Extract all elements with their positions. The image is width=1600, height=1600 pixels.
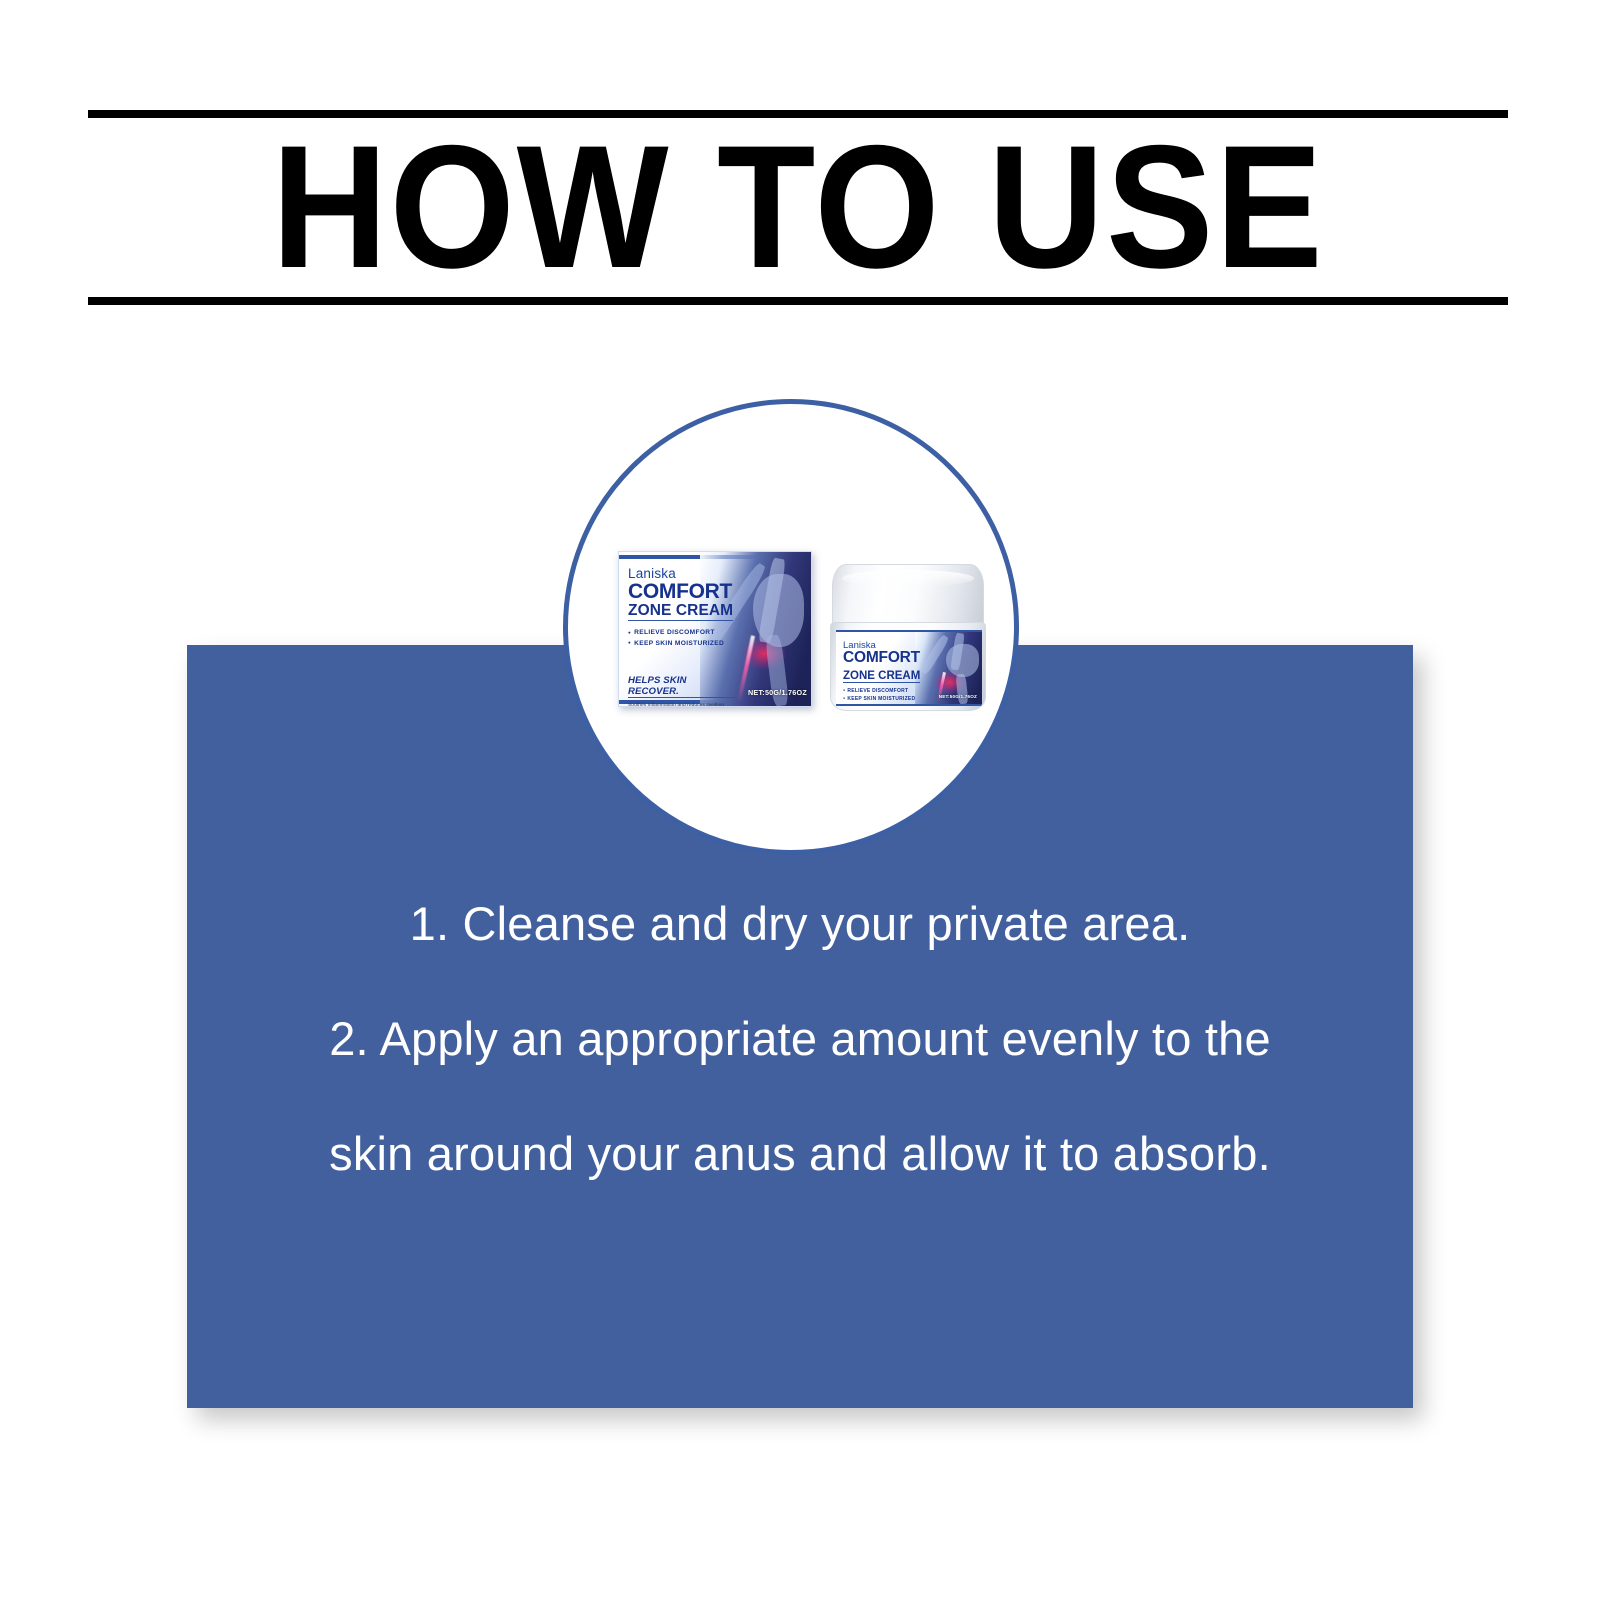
instruction-step-1: 1. Cleanse and dry your private area.: [187, 900, 1413, 947]
box-label-text: Laniska COMFORT ZONE CREAM RELIEVE DISCO…: [628, 566, 736, 707]
box-fineprint: Soothes inflammation and reduces swellin…: [628, 702, 736, 707]
title-rule-bottom: [88, 297, 1508, 305]
page-title: HOW TO USE: [145, 118, 1451, 297]
box-headline: COMFORT: [628, 582, 736, 602]
jar-benefit-item: KEEP SKIN MOISTURIZED: [843, 696, 928, 704]
jar-label: Laniska COMFORT ZONE CREAM RELIEVE DISCO…: [836, 630, 982, 706]
jar-net-weight: NET:50G/1.76OZ: [939, 694, 977, 699]
instruction-step-3: skin around your anus and allow it to ab…: [187, 1130, 1413, 1177]
box-claim: HELPS SKIN RECOVER.: [628, 675, 736, 698]
box-net-weight: NET:50G/1.76OZ: [748, 688, 807, 697]
jar-benefit-list: RELIEVE DISCOMFORT KEEP SKIN MOISTURIZED: [843, 688, 928, 704]
jar-benefit-item: RELIEVE DISCOMFORT: [843, 688, 928, 696]
box-subheadline: ZONE CREAM: [628, 603, 733, 621]
jar-label-text: Laniska COMFORT ZONE CREAM RELIEVE DISCO…: [843, 640, 928, 706]
jar-lid: [832, 564, 984, 630]
leg-bone-icon: [956, 673, 969, 704]
box-benefit-item: KEEP SKIN MOISTURIZED: [628, 639, 736, 649]
product-jar-image: Laniska COMFORT ZONE CREAM RELIEVE DISCO…: [830, 564, 986, 711]
product-box-image: Laniska COMFORT ZONE CREAM RELIEVE DISCO…: [618, 551, 812, 707]
box-brand-name: Laniska: [628, 566, 736, 581]
box-benefit-list: RELIEVE DISCOMFORT KEEP SKIN MOISTURIZED: [628, 628, 736, 648]
instructions-list: 1. Cleanse and dry your private area. 2.…: [187, 900, 1413, 1177]
box-fineprint-line: Soothes inflammation and reduces swellin…: [628, 702, 736, 707]
header-block: HOW TO USE: [88, 110, 1508, 305]
pelvis-bone-icon: [946, 644, 978, 677]
jar-headline: COMFORT: [843, 651, 928, 666]
jar-subheadline: ZONE CREAM: [843, 670, 920, 683]
jar-body: Laniska COMFORT ZONE CREAM RELIEVE DISCO…: [830, 622, 986, 711]
box-benefit-item: RELIEVE DISCOMFORT: [628, 628, 736, 638]
instruction-step-2: 2. Apply an appropriate amount evenly to…: [187, 1015, 1413, 1062]
